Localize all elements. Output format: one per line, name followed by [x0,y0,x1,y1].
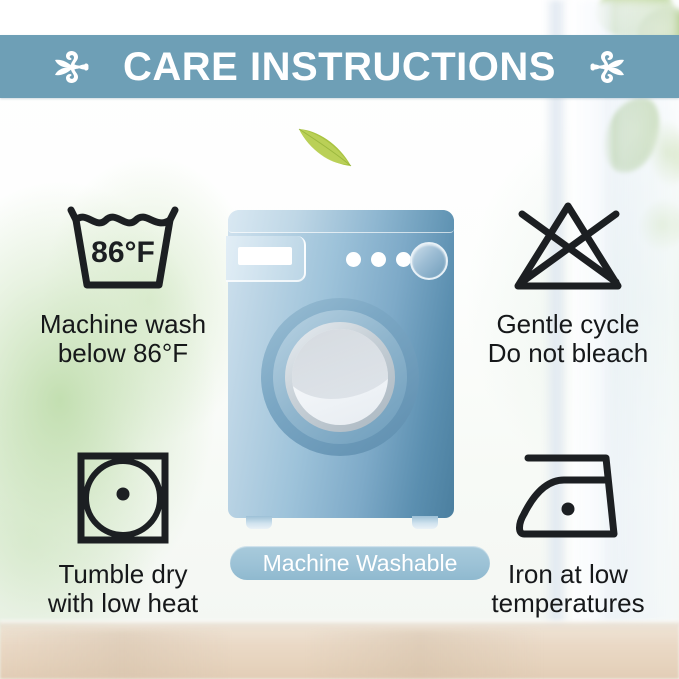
control-dot-icon [371,252,386,267]
washing-machine-door [261,298,419,456]
door-glass-reflection [292,329,388,399]
wooden-table-edge [0,620,679,625]
wash-tub-icon-wrapper: 86°F [18,192,228,304]
care-symbol-do-not-bleach: Gentle cycle Do not bleach [468,192,668,368]
washing-machine-body [228,210,454,518]
washing-machine-foot [246,516,272,529]
control-dot-icon [396,252,411,267]
triangle-crossed-out-icon [506,196,630,300]
machine-washable-badge-label: Machine Washable [263,552,458,575]
care-symbol-iron: Iron at low temperatures [468,442,668,618]
fleur-de-lis-ornament-right-icon [574,44,636,90]
care-instructions-infographic: CARE INSTRUCTIONS 86°F Machine w [0,0,679,679]
door-glass [292,329,388,425]
fleur-de-lis-ornament-left-icon [43,44,105,90]
iron-icon-wrapper [468,442,668,554]
care-symbol-tumble-dry: Tumble dry with low heat [18,442,228,618]
control-knob-icon [410,242,448,280]
door-ring-mid [273,310,407,444]
control-dots-group [346,252,411,267]
header-banner: CARE INSTRUCTIONS [0,35,679,98]
machine-washable-badge: Machine Washable [230,546,490,580]
wooden-table-grain [0,630,679,679]
detergent-drawer-slot [238,247,292,265]
triangle-crossed-out-icon-wrapper [468,192,668,304]
tumble-dry-square-icon-wrapper [18,442,228,554]
detergent-drawer [226,236,306,282]
wash-tub-icon: 86°F [59,196,187,300]
care-symbol-caption: Tumble dry with low heat [18,560,228,618]
washing-machine-illustration [228,210,454,530]
care-symbol-caption: Gentle cycle Do not bleach [468,310,668,368]
care-symbol-caption: Iron at low temperatures [468,560,668,618]
iron-icon [506,446,630,550]
care-symbol-machine-wash: 86°F Machine wash below 86°F [18,192,228,368]
page-title: CARE INSTRUCTIONS [123,47,556,87]
door-rim [285,322,395,432]
tumble-dry-square-icon [71,446,175,550]
wash-temperature-value: 86°F [91,236,155,269]
floating-leaf-icon [295,122,357,170]
washing-machine-lid [228,210,454,233]
care-symbol-caption: Machine wash below 86°F [18,310,228,368]
control-dot-icon [346,252,361,267]
washing-machine-foot [412,516,438,529]
